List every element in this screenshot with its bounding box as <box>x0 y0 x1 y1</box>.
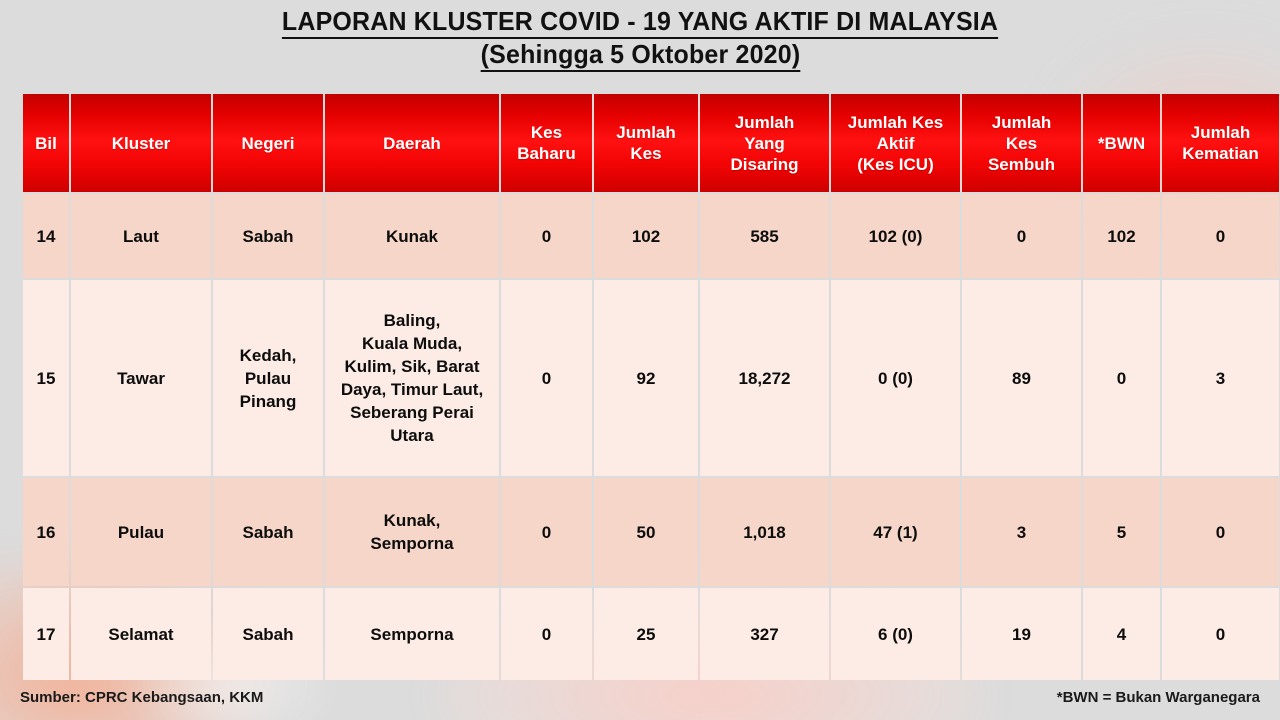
cell-daerah: Baling, Kuala Muda, Kulim, Sik, Barat Da… <box>325 280 499 476</box>
cell-kes-baharu: 0 <box>501 588 592 680</box>
cell-kematian: 0 <box>1162 588 1279 680</box>
cell-kes-aktif-icu: 102 (0) <box>831 194 960 278</box>
cell-bwn: 4 <box>1083 588 1160 680</box>
column-header-kes-baharu: Kes Baharu <box>501 94 592 192</box>
column-header-daerah: Daerah <box>325 94 499 192</box>
cell-kes-sembuh: 3 <box>962 478 1081 586</box>
cell-bil: 16 <box>23 478 69 586</box>
cell-kluster: Laut <box>71 194 211 278</box>
cell-kluster: Selamat <box>71 588 211 680</box>
cell-bil: 14 <box>23 194 69 278</box>
cell-negeri: Sabah <box>213 588 323 680</box>
footer: Sumber: CPRC Kebangsaan, KKM *BWN = Buka… <box>0 689 1280 706</box>
cell-kes-aktif-icu: 47 (1) <box>831 478 960 586</box>
cell-kematian: 0 <box>1162 194 1279 278</box>
title-line-2: (Sehingga 5 Oktober 2020) <box>480 39 800 72</box>
cell-negeri: Sabah <box>213 194 323 278</box>
footer-legend: *BWN = Bukan Warganegara <box>1057 689 1260 706</box>
slide: LAPORAN KLUSTER COVID - 19 YANG AKTIF DI… <box>0 0 1280 720</box>
cell-kes-baharu: 0 <box>501 478 592 586</box>
cell-kematian: 3 <box>1162 280 1279 476</box>
column-header-kluster: Kluster <box>71 94 211 192</box>
cluster-report-table: Bil Kluster Negeri Daerah Kes Baharu Jum… <box>21 92 1280 682</box>
cell-kluster: Tawar <box>71 280 211 476</box>
footer-source: Sumber: CPRC Kebangsaan, KKM <box>20 689 263 706</box>
cell-negeri: Kedah, Pulau Pinang <box>213 280 323 476</box>
cell-jumlah-disaring: 327 <box>700 588 829 680</box>
cell-bil: 17 <box>23 588 69 680</box>
cell-kematian: 0 <box>1162 478 1279 586</box>
table-row: 16 Pulau Sabah Kunak, Semporna 0 50 1,01… <box>23 478 1279 586</box>
column-header-bwn: *BWN <box>1083 94 1160 192</box>
column-header-bil: Bil <box>23 94 69 192</box>
cell-jumlah-disaring: 18,272 <box>700 280 829 476</box>
column-header-negeri: Negeri <box>213 94 323 192</box>
title-line-1: LAPORAN KLUSTER COVID - 19 YANG AKTIF DI… <box>282 6 998 39</box>
column-header-jumlah-kematian: Jumlah Kematian <box>1162 94 1279 192</box>
cell-kes-aktif-icu: 6 (0) <box>831 588 960 680</box>
cell-jumlah-kes: 25 <box>594 588 698 680</box>
cell-jumlah-disaring: 1,018 <box>700 478 829 586</box>
cell-bil: 15 <box>23 280 69 476</box>
table-row: 17 Selamat Sabah Semporna 0 25 327 6 (0)… <box>23 588 1279 680</box>
column-header-kes-aktif-icu: Jumlah Kes Aktif (Kes ICU) <box>831 94 960 192</box>
cell-kes-baharu: 0 <box>501 194 592 278</box>
cell-jumlah-kes: 50 <box>594 478 698 586</box>
column-header-jumlah-disaring: Jumlah Yang Disaring <box>700 94 829 192</box>
cell-kes-sembuh: 89 <box>962 280 1081 476</box>
page-title: LAPORAN KLUSTER COVID - 19 YANG AKTIF DI… <box>0 6 1280 72</box>
cell-kes-sembuh: 0 <box>962 194 1081 278</box>
column-header-jumlah-kes: Jumlah Kes <box>594 94 698 192</box>
cell-negeri: Sabah <box>213 478 323 586</box>
cell-daerah: Kunak <box>325 194 499 278</box>
cell-jumlah-kes: 102 <box>594 194 698 278</box>
cell-daerah: Semporna <box>325 588 499 680</box>
cell-kes-sembuh: 19 <box>962 588 1081 680</box>
table-row: 14 Laut Sabah Kunak 0 102 585 102 (0) 0 … <box>23 194 1279 278</box>
cell-jumlah-kes: 92 <box>594 280 698 476</box>
cell-bwn: 102 <box>1083 194 1160 278</box>
cell-bwn: 0 <box>1083 280 1160 476</box>
cell-kes-aktif-icu: 0 (0) <box>831 280 960 476</box>
cell-jumlah-disaring: 585 <box>700 194 829 278</box>
column-header-kes-sembuh: Jumlah Kes Sembuh <box>962 94 1081 192</box>
cell-daerah: Kunak, Semporna <box>325 478 499 586</box>
cell-kes-baharu: 0 <box>501 280 592 476</box>
table-row: 15 Tawar Kedah, Pulau Pinang Baling, Kua… <box>23 280 1279 476</box>
cell-kluster: Pulau <box>71 478 211 586</box>
cell-bwn: 5 <box>1083 478 1160 586</box>
table-header-row: Bil Kluster Negeri Daerah Kes Baharu Jum… <box>23 94 1279 192</box>
